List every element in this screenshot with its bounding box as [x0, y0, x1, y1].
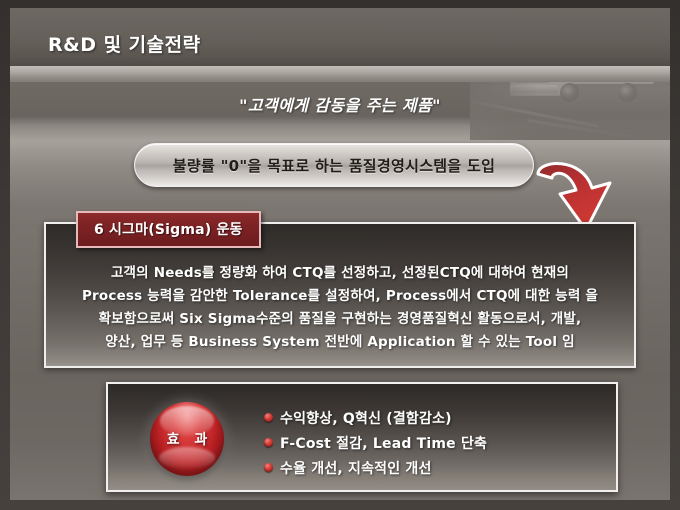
- bullet-icon: [264, 413, 273, 422]
- list-item-label: 수율 개선, 지속적인 개선: [280, 458, 432, 478]
- description-line: 양산, 업무 등 Business System 전반에 Application…: [46, 331, 634, 354]
- list-item-label: 수익향상, Q혁신 (결함감소): [280, 408, 452, 428]
- slide-tagline: "고객에게 감동을 주는 제품": [10, 92, 670, 116]
- effects-list: 수익향상, Q혁신 (결함감소) F-Cost 절감, Lead Time 단축…: [264, 406, 606, 481]
- policy-pill-banner: 불량률 "0"을 목표로 하는 품질경영시스템을 도입: [134, 143, 534, 187]
- presentation-slide: R&D 및 기술전략 "고객에게 감동을 주는 제품" 불량률 "0"을 목표로…: [0, 0, 680, 510]
- six-sigma-label-chip: 6 시그마(Sigma) 운동: [76, 211, 261, 248]
- six-sigma-description-text: 고객의 Needs를 정량화 하여 CTQ를 선정하고, 선정된CTQ에 대하여…: [46, 262, 634, 354]
- header-sheen-strip: [10, 66, 670, 82]
- policy-pill-text: 불량률 "0"을 목표로 하는 품질경영시스템을 도입: [173, 155, 495, 176]
- list-item: F-Cost 절감, Lead Time 단축: [264, 431, 606, 454]
- six-sigma-label-text: 6 시그마(Sigma) 운동: [94, 222, 243, 238]
- effects-box: 효 과 수익향상, Q혁신 (결함감소) F-Cost 절감, Lead Tim…: [106, 382, 618, 492]
- list-item: 수익향상, Q혁신 (결함감소): [264, 406, 606, 429]
- list-item: 수율 개선, 지속적인 개선: [264, 456, 606, 479]
- slide-content-plate: R&D 및 기술전략 "고객에게 감동을 주는 제품" 불량률 "0"을 목표로…: [10, 8, 670, 500]
- bullet-icon: [264, 463, 273, 472]
- effects-sphere-badge: 효 과: [150, 402, 224, 476]
- list-item-label: F-Cost 절감, Lead Time 단축: [280, 433, 487, 453]
- description-line: Process 능력을 감안한 Tolerance를 설정하여, Process…: [46, 285, 634, 308]
- description-line: 확보함으로써 Six Sigma수준의 품질을 구현하는 경영품질혁신 활동으로…: [46, 308, 634, 331]
- description-line: 고객의 Needs를 정량화 하여 CTQ를 선정하고, 선정된CTQ에 대하여…: [46, 262, 634, 285]
- effects-sphere-label: 효 과: [150, 402, 224, 476]
- bullet-icon: [264, 438, 273, 447]
- page-title: R&D 및 기술전략: [48, 30, 201, 57]
